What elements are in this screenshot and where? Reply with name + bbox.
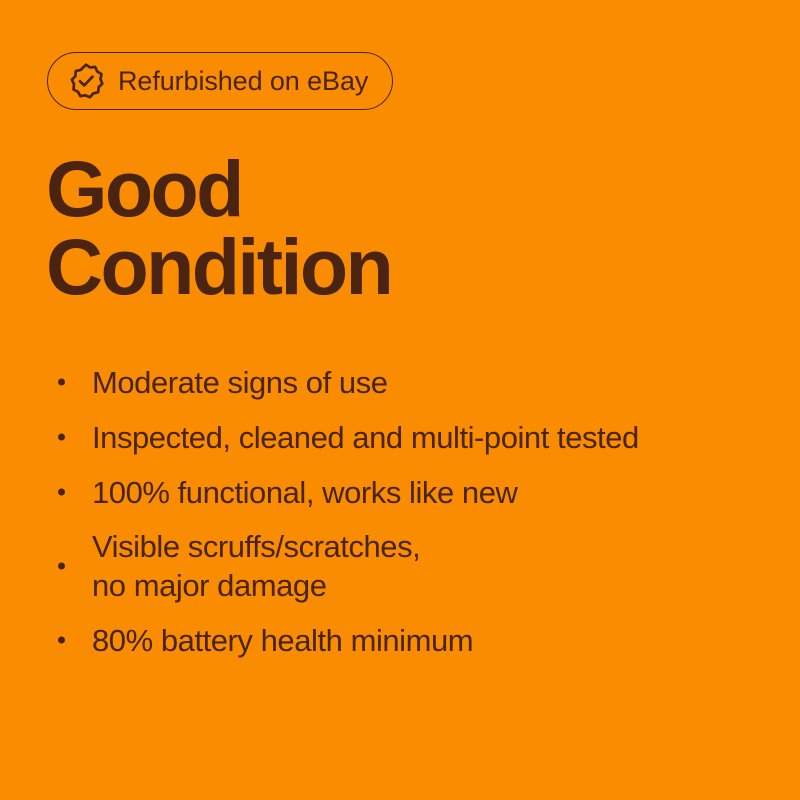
verified-rosette-check-icon [67, 62, 118, 100]
bullet-icon [58, 379, 65, 386]
refurbished-badge-label: Refurbished on eBay [118, 68, 368, 95]
list-item: Inspected, cleaned and multi-point teste… [56, 417, 756, 457]
page-title-line-2: Condition [46, 228, 391, 306]
refurbished-condition-card: Refurbished on eBay Good Condition Moder… [0, 0, 800, 800]
list-item: 100% functional, works like new [56, 472, 756, 512]
refurbished-badge: Refurbished on eBay [47, 52, 393, 110]
page-title: Good Condition [46, 150, 391, 306]
bullet-icon [58, 637, 65, 644]
list-item-label: Moderate signs of use [92, 363, 388, 402]
condition-feature-list: Moderate signs of use Inspected, cleaned… [56, 362, 756, 660]
list-item-label: Visible scruffs/scratches, no major dama… [92, 527, 420, 605]
list-item-label: 80% battery health minimum [92, 621, 473, 660]
list-item-label: Inspected, cleaned and multi-point teste… [92, 418, 639, 457]
list-item: Visible scruffs/scratches, no major dama… [56, 527, 756, 605]
list-item: Moderate signs of use [56, 362, 756, 402]
bullet-icon [58, 434, 65, 441]
bullet-icon [58, 563, 65, 570]
page-title-line-1: Good [46, 150, 391, 228]
list-item: 80% battery health minimum [56, 620, 756, 660]
list-item-label: 100% functional, works like new [92, 473, 517, 512]
bullet-icon [58, 489, 65, 496]
